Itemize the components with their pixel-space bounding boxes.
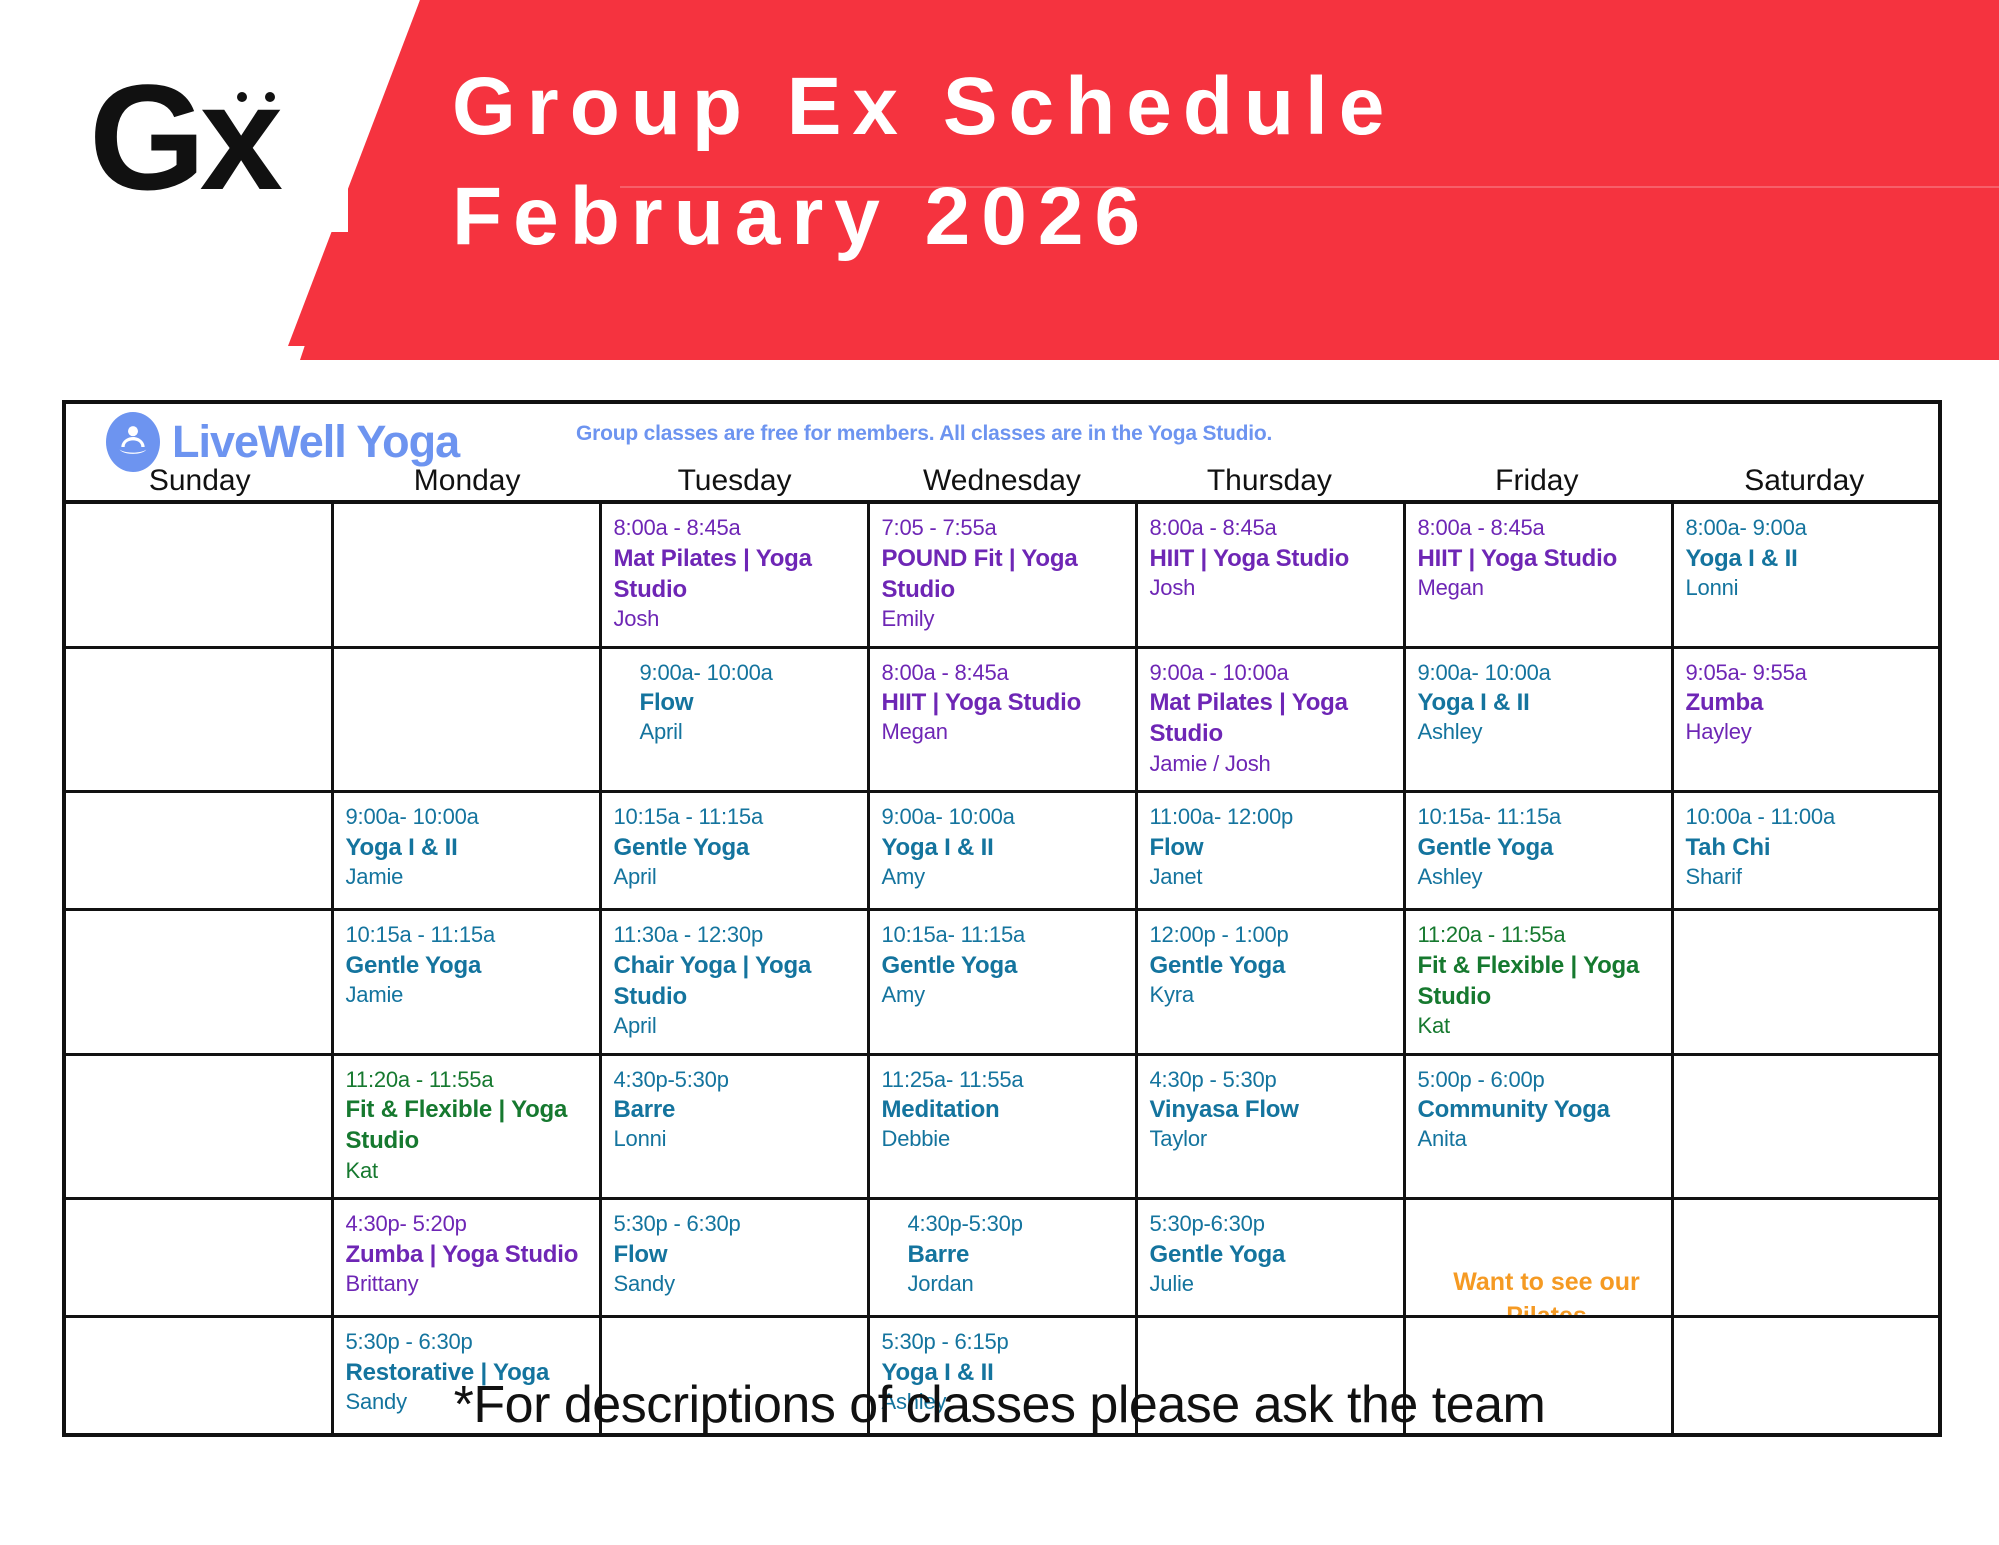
class-entry: 11:30a - 12:30pChair Yoga | Yoga StudioA… [614,921,855,1041]
class-instructor: Hayley [1686,718,1927,747]
class-time: 4:30p- 5:20p [346,1210,587,1239]
class-name: Chair Yoga | Yoga Studio [614,950,855,1012]
schedule-cell-monday[interactable]: 10:15a - 11:15aGentle YogaJamie [332,910,600,1055]
schedule-cell-wednesday[interactable]: 8:00a - 8:45aHIIT | Yoga StudioMegan [868,647,1136,792]
class-name: Gentle Yoga [1150,950,1391,981]
class-instructor: Brittany [346,1270,587,1299]
class-time: 5:30p - 6:30p [614,1210,855,1239]
class-entry: 9:00a- 10:00aFlowApril [614,659,855,747]
class-name: Zumba [1686,687,1927,718]
class-time: 9:00a- 10:00a [882,803,1123,832]
day-header-saturday: Saturday [1671,464,1938,498]
pilates-qr-prompt: Want to see our Pilatesschedule?Scan the… [1432,1266,1662,1317]
class-name: Gentle Yoga [1150,1239,1391,1270]
class-time: 12:00p - 1:00p [1150,921,1391,950]
class-entry: 4:30p- 5:20pZumba | Yoga StudioBrittany [346,1210,587,1298]
schedule-cell-friday[interactable]: Want to see our Pilatesschedule?Scan the… [1404,1199,1672,1317]
brand-block: LiveWell Yoga [106,412,459,472]
gx-logo-dot-right [265,92,275,102]
class-name: HIIT | Yoga Studio [1150,543,1391,574]
class-time: 11:30a - 12:30p [614,921,855,950]
class-instructor: Josh [614,605,855,634]
schedule-cell-saturday[interactable] [1672,1199,1940,1317]
class-instructor: April [614,1012,855,1041]
class-instructor: Lonni [614,1125,855,1154]
class-instructor: Josh [1150,574,1391,603]
schedule-cell-wednesday[interactable]: 11:25a- 11:55aMeditationDebbie [868,1054,1136,1199]
class-entry: 12:00p - 1:00pGentle YogaKyra [1150,921,1391,1009]
qr-code[interactable] [1940,1220,1941,1317]
class-name: Gentle Yoga [1418,832,1659,863]
schedule-cell-monday[interactable]: 9:00a- 10:00aYoga I & IIJamie [332,792,600,910]
class-entry: 4:30p-5:30pBarreLonni [614,1066,855,1154]
schedule-cell-monday[interactable] [332,502,600,647]
class-time: 4:30p-5:30p [614,1066,855,1095]
schedule-cell-friday[interactable]: 5:00p - 6:00pCommunity YogaAnita [1404,1054,1672,1199]
class-instructor: Sandy [614,1270,855,1299]
class-entry: 4:30p-5:30pBarreJordan [882,1210,1123,1298]
class-entry: 5:30p-6:30pGentle YogaJulie [1150,1210,1391,1298]
class-entry: 9:00a- 10:00aYoga I & IIAshley [1418,659,1659,747]
class-time: 11:20a - 11:55a [1418,921,1659,950]
schedule-cell-friday[interactable]: 10:15a- 11:15aGentle YogaAshley [1404,792,1672,910]
class-instructor: Jamie [346,981,587,1010]
schedule-cell-sunday[interactable] [64,910,332,1055]
class-time: 8:00a - 8:45a [1150,514,1391,543]
class-time: 10:15a - 11:15a [614,803,855,832]
class-instructor: Sharif [1686,863,1927,892]
schedule-container: LiveWell Yoga Group classes are free for… [62,400,1942,1437]
class-name: Gentle Yoga [346,950,587,981]
table-row: 11:20a - 11:55aFit & Flexible | Yoga Stu… [64,1054,1940,1199]
day-header-sunday: Sunday [66,464,333,498]
class-time: 5:30p - 6:15p [882,1328,1123,1357]
class-name: Community Yoga [1418,1094,1659,1125]
class-instructor: Kat [1418,1012,1659,1041]
class-time: 10:15a- 11:15a [1418,803,1659,832]
schedule-grid: 8:00a - 8:45aMat Pilates | Yoga StudioJo… [62,500,1942,1437]
class-instructor: Megan [882,718,1123,747]
schedule-cell-monday[interactable]: 11:20a - 11:55aFit & Flexible | Yoga Stu… [332,1054,600,1199]
class-name: Gentle Yoga [614,832,855,863]
schedule-cell-thursday[interactable]: 5:30p-6:30pGentle YogaJulie [1136,1199,1404,1317]
class-instructor: Taylor [1150,1125,1391,1154]
schedule-cell-thursday[interactable]: 12:00p - 1:00pGentle YogaKyra [1136,910,1404,1055]
class-time: 5:00p - 6:00p [1418,1066,1659,1095]
class-instructor: April [640,718,855,747]
class-time: 8:00a - 8:45a [1418,514,1659,543]
class-entry: 10:00a - 11:00aTah ChiSharif [1686,803,1927,891]
class-entry: 5:30p - 6:30pFlowSandy [614,1210,855,1298]
class-name: Barre [908,1239,1123,1270]
day-header-tuesday: Tuesday [601,464,868,498]
schedule-cell-thursday[interactable]: 9:00a - 10:00aMat Pilates | Yoga StudioJ… [1136,647,1404,792]
class-instructor: Amy [882,863,1123,892]
schedule-cell-sunday[interactable] [64,1054,332,1199]
class-entry: 10:15a - 11:15aGentle YogaApril [614,803,855,891]
class-instructor: Lonni [1686,574,1927,603]
class-name: Mat Pilates | Yoga Studio [614,543,855,605]
day-header-row: Sunday Monday Tuesday Wednesday Thursday… [66,464,1938,498]
schedule-cell-sunday[interactable] [64,1199,332,1317]
class-name: Flow [1150,832,1391,863]
table-row: 9:00a- 10:00aYoga I & IIJamie10:15a - 11… [64,792,1940,910]
class-name: Zumba | Yoga Studio [346,1239,587,1270]
class-name: Barre [614,1094,855,1125]
class-name: Yoga I & II [882,832,1123,863]
schedule-cell-saturday[interactable]: 8:00a- 9:00aYoga I & IILonni [1672,502,1940,647]
class-instructor: Jamie / Josh [1150,750,1391,779]
class-entry: 9:05a- 9:55aZumbaHayley [1686,659,1927,747]
schedule-header: LiveWell Yoga Group classes are free for… [62,400,1942,500]
class-name: POUND Fit | Yoga Studio [882,543,1123,605]
class-time: 11:00a- 12:00p [1150,803,1391,832]
day-header-thursday: Thursday [1136,464,1403,498]
class-time: 10:15a - 11:15a [346,921,587,950]
schedule-cell-sunday[interactable] [64,502,332,647]
class-time: 10:00a - 11:00a [1686,803,1927,832]
schedule-cell-saturday[interactable] [1672,1054,1940,1199]
title-line-1: Group Ex Schedule [452,52,1852,162]
meditation-person-icon [106,412,160,472]
class-name: Yoga I & II [1686,543,1927,574]
class-instructor: Debbie [882,1125,1123,1154]
class-entry: 8:00a - 8:45aMat Pilates | Yoga StudioJo… [614,514,855,634]
class-name: Fit & Flexible | Yoga Studio [1418,950,1659,1012]
class-entry: 4:30p - 5:30pVinyasa FlowTaylor [1150,1066,1391,1154]
class-name: Yoga I & II [346,832,587,863]
class-entry: 8:00a- 9:00aYoga I & IILonni [1686,514,1927,602]
class-instructor: Jordan [908,1270,1123,1299]
header-banner: Gx Group Ex Schedule February 2026 [0,0,1999,372]
class-instructor: Amy [882,981,1123,1010]
class-instructor: Anita [1418,1125,1659,1154]
schedule-cell-wednesday[interactable]: 9:00a- 10:00aYoga I & IIAmy [868,792,1136,910]
pilates-qr-prompt-line: Want to see our Pilates [1432,1266,1662,1317]
schedule-cell-monday[interactable] [332,647,600,792]
class-entry: 11:20a - 11:55aFit & Flexible | Yoga Stu… [346,1066,587,1186]
class-instructor: Jamie [346,863,587,892]
schedule-note: Group classes are free for members. All … [576,422,1272,446]
schedule-cell-tuesday[interactable]: 9:00a- 10:00aFlowApril [600,647,868,792]
class-time: 10:15a- 11:15a [882,921,1123,950]
class-entry: 8:00a - 8:45aHIIT | Yoga StudioJosh [1150,514,1391,602]
class-time: 5:30p-6:30p [1150,1210,1391,1239]
schedule-cell-tuesday[interactable]: 4:30p-5:30pBarreLonni [600,1054,868,1199]
class-instructor: Kat [346,1157,587,1186]
class-name: Fit & Flexible | Yoga Studio [346,1094,587,1156]
page-title: Group Ex Schedule February 2026 [452,52,1852,272]
class-time: 9:00a- 10:00a [640,659,855,688]
class-name: HIIT | Yoga Studio [882,687,1123,718]
schedule-cell-saturday[interactable]: 10:00a - 11:00aTah ChiSharif [1672,792,1940,910]
brand-name: LiveWell Yoga [172,416,459,468]
class-time: 8:00a - 8:45a [882,659,1123,688]
class-name: Vinyasa Flow [1150,1094,1391,1125]
gx-logo-text: Gx [89,53,277,221]
gx-logo: Gx [18,42,348,232]
schedule-cell-saturday[interactable] [1672,910,1940,1055]
schedule-cell-sunday[interactable] [64,792,332,910]
class-instructor: Kyra [1150,981,1391,1010]
class-time: 8:00a- 9:00a [1686,514,1927,543]
class-name: HIIT | Yoga Studio [1418,543,1659,574]
class-time: 9:05a- 9:55a [1686,659,1927,688]
schedule-cell-thursday[interactable]: 11:00a- 12:00pFlowJanet [1136,792,1404,910]
class-entry: 9:00a - 10:00aMat Pilates | Yoga StudioJ… [1150,659,1391,779]
class-instructor: Julie [1150,1270,1391,1299]
gx-logo-dot-left [237,92,247,102]
schedule-cell-tuesday[interactable]: 11:30a - 12:30pChair Yoga | Yoga StudioA… [600,910,868,1055]
schedule-cell-monday[interactable]: 4:30p- 5:20pZumba | Yoga StudioBrittany [332,1199,600,1317]
schedule-cell-wednesday[interactable]: 4:30p-5:30pBarreJordan [868,1199,1136,1317]
table-row: 8:00a - 8:45aMat Pilates | Yoga StudioJo… [64,502,1940,647]
class-entry: 7:05 - 7:55aPOUND Fit | Yoga StudioEmily [882,514,1123,634]
class-time: 4:30p - 5:30p [1150,1066,1391,1095]
class-entry: 9:00a- 10:00aYoga I & IIJamie [346,803,587,891]
schedule-cell-wednesday[interactable]: 10:15a- 11:15aGentle YogaAmy [868,910,1136,1055]
class-entry: 8:00a - 8:45aHIIT | Yoga StudioMegan [882,659,1123,747]
class-time: 9:00a- 10:00a [346,803,587,832]
class-time: 5:30p - 6:30p [346,1328,587,1357]
schedule-cell-sunday[interactable] [64,647,332,792]
schedule-cell-tuesday[interactable]: 5:30p - 6:30pFlowSandy [600,1199,868,1317]
class-entry: 8:00a - 8:45aHIIT | Yoga StudioMegan [1418,514,1659,602]
day-header-friday: Friday [1403,464,1670,498]
day-header-monday: Monday [333,464,600,498]
table-row: 10:15a - 11:15aGentle YogaJamie11:30a - … [64,910,1940,1055]
schedule-cell-tuesday[interactable]: 8:00a - 8:45aMat Pilates | Yoga StudioJo… [600,502,868,647]
schedule-cell-thursday[interactable]: 8:00a - 8:45aHIIT | Yoga StudioJosh [1136,502,1404,647]
class-entry: 5:00p - 6:00pCommunity YogaAnita [1418,1066,1659,1154]
schedule-cell-saturday[interactable]: 9:05a- 9:55aZumbaHayley [1672,647,1940,792]
class-time: 9:00a - 10:00a [1150,659,1391,688]
schedule-cell-wednesday[interactable]: 7:05 - 7:55aPOUND Fit | Yoga StudioEmily [868,502,1136,647]
class-instructor: Ashley [1418,718,1659,747]
class-entry: 11:20a - 11:55aFit & Flexible | Yoga Stu… [1418,921,1659,1041]
class-name: Flow [614,1239,855,1270]
schedule-cell-friday[interactable]: 8:00a - 8:45aHIIT | Yoga StudioMegan [1404,502,1672,647]
schedule-cell-friday[interactable]: 9:00a- 10:00aYoga I & IIAshley [1404,647,1672,792]
class-name: Yoga I & II [1418,687,1659,718]
class-instructor: Janet [1150,863,1391,892]
class-instructor: Ashley [1418,863,1659,892]
table-row: 4:30p- 5:20pZumba | Yoga StudioBrittany5… [64,1199,1940,1317]
class-name: Tah Chi [1686,832,1927,863]
title-line-2: February 2026 [452,162,1852,272]
class-instructor: Megan [1418,574,1659,603]
table-row: 9:00a- 10:00aFlowApril8:00a - 8:45aHIIT … [64,647,1940,792]
class-name: Gentle Yoga [882,950,1123,981]
day-header-wednesday: Wednesday [868,464,1135,498]
class-entry: 9:00a- 10:00aYoga I & IIAmy [882,803,1123,891]
schedule-cell-friday[interactable]: 11:20a - 11:55aFit & Flexible | Yoga Stu… [1404,910,1672,1055]
class-entry: 11:25a- 11:55aMeditationDebbie [882,1066,1123,1154]
footer-note: *For descriptions of classes please ask … [0,1375,1999,1435]
class-instructor: Emily [882,605,1123,634]
class-entry: 10:15a- 11:15aGentle YogaAmy [882,921,1123,1009]
class-entry: 10:15a - 11:15aGentle YogaJamie [346,921,587,1009]
class-time: 4:30p-5:30p [908,1210,1123,1239]
class-name: Mat Pilates | Yoga Studio [1150,687,1391,749]
class-name: Flow [640,687,855,718]
schedule-cell-thursday[interactable]: 4:30p - 5:30pVinyasa FlowTaylor [1136,1054,1404,1199]
class-time: 9:00a- 10:00a [1418,659,1659,688]
class-instructor: April [614,863,855,892]
class-time: 11:25a- 11:55a [882,1066,1123,1095]
class-entry: 11:00a- 12:00pFlowJanet [1150,803,1391,891]
class-time: 8:00a - 8:45a [614,514,855,543]
schedule-cell-tuesday[interactable]: 10:15a - 11:15aGentle YogaApril [600,792,868,910]
class-name: Meditation [882,1094,1123,1125]
class-time: 7:05 - 7:55a [882,514,1123,543]
class-time: 11:20a - 11:55a [346,1066,587,1095]
class-entry: 10:15a- 11:15aGentle YogaAshley [1418,803,1659,891]
